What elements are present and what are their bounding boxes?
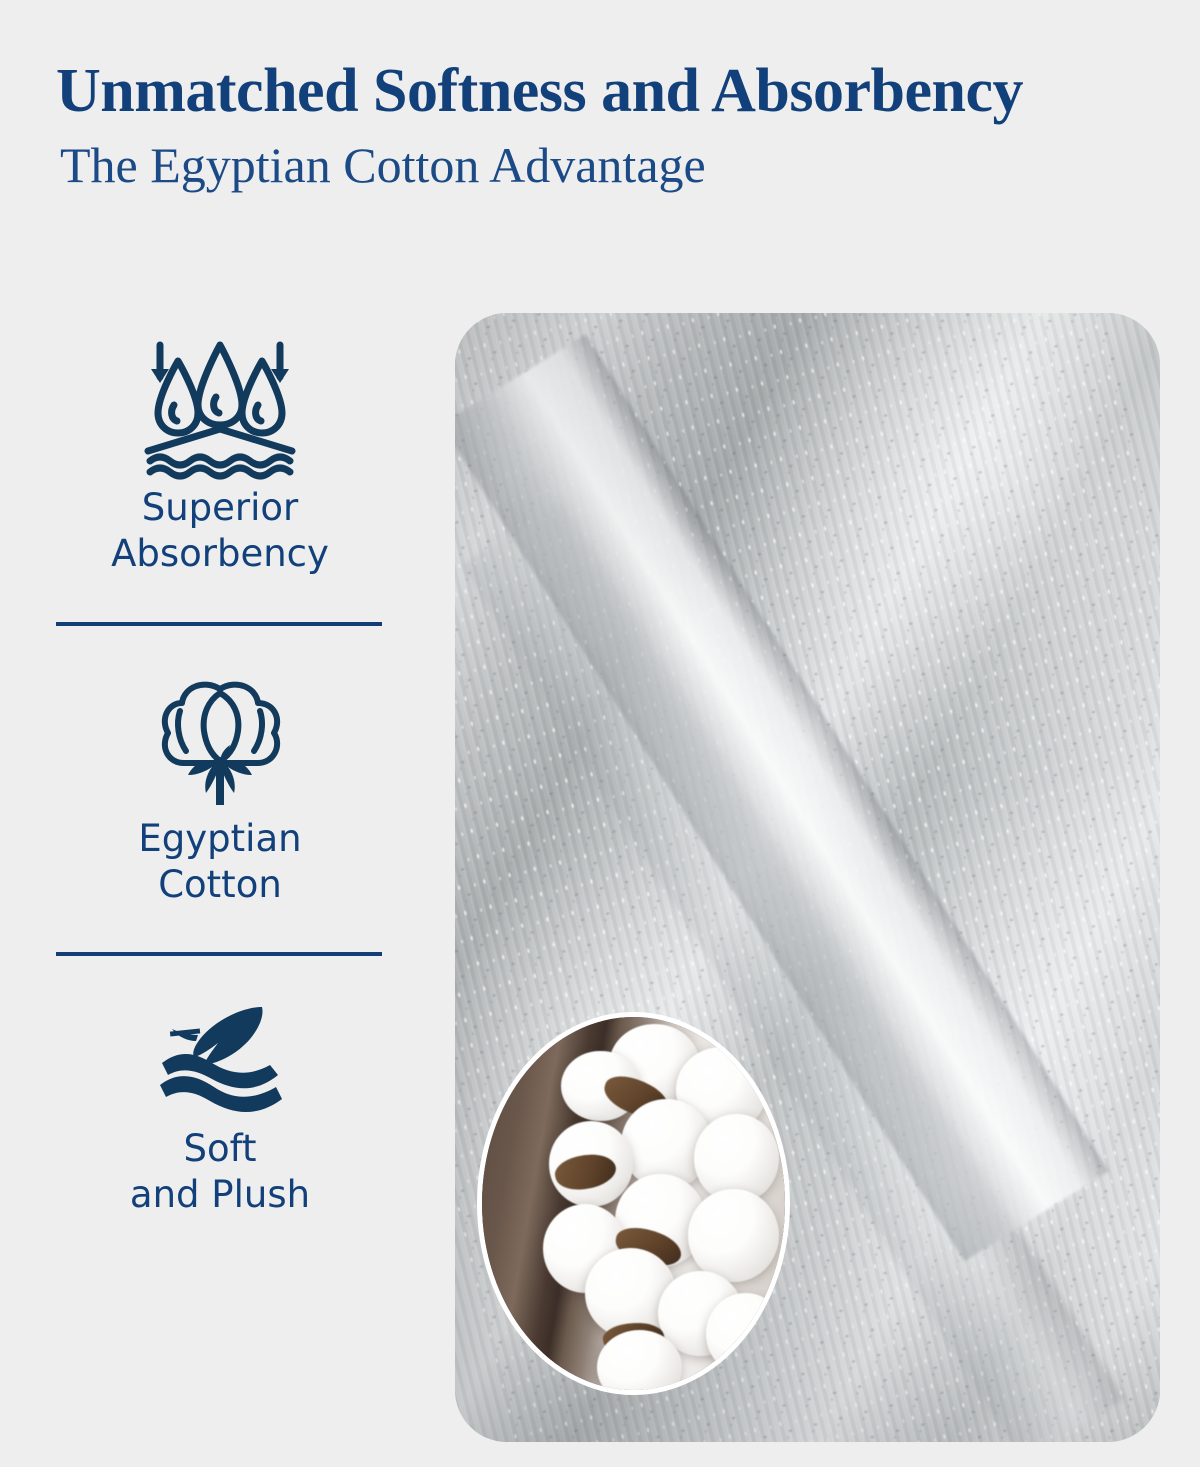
feature-list: Superior Absorbency bbox=[56, 330, 384, 1219]
feature-label-line1: Superior bbox=[142, 486, 299, 529]
feature-label: Superior Absorbency bbox=[56, 485, 384, 578]
product-feature-page: Unmatched Softness and Absorbency The Eg… bbox=[0, 0, 1200, 1467]
page-subtitle: The Egyptian Cotton Advantage bbox=[60, 139, 1156, 192]
cotton-boll-icon bbox=[56, 666, 384, 816]
feature-divider bbox=[56, 952, 382, 956]
feature-label-line1: Soft bbox=[183, 1127, 256, 1170]
cotton-boll-photo-inset bbox=[477, 1012, 790, 1395]
feather-softness-icon bbox=[56, 996, 384, 1126]
towel-photo bbox=[455, 313, 1160, 1442]
feature-label-line1: Egyptian bbox=[138, 817, 301, 860]
feature-egyptian-cotton: Egyptian Cotton bbox=[56, 666, 384, 957]
feature-label-line2: and Plush bbox=[56, 1172, 384, 1218]
feature-label: Soft and Plush bbox=[56, 1126, 384, 1219]
header: Unmatched Softness and Absorbency The Eg… bbox=[56, 60, 1156, 192]
feature-divider bbox=[56, 622, 382, 626]
feature-label-line2: Absorbency bbox=[56, 531, 384, 577]
feature-label: Egyptian Cotton bbox=[56, 816, 384, 909]
page-title: Unmatched Softness and Absorbency bbox=[56, 60, 1156, 123]
feature-soft-and-plush: Soft and Plush bbox=[56, 996, 384, 1219]
water-absorbency-icon bbox=[56, 330, 384, 485]
feature-superior-absorbency: Superior Absorbency bbox=[56, 330, 384, 626]
feature-label-line2: Cotton bbox=[56, 862, 384, 908]
